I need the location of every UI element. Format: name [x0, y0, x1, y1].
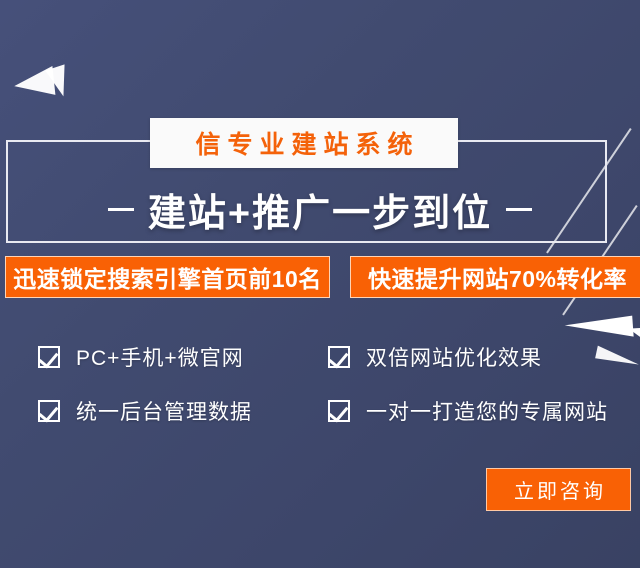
checkbox-checked-icon [38, 346, 60, 368]
highlight-bar-search-ranking: 迅速锁定搜索引擎首页前10名 [5, 256, 330, 298]
feature-label: PC+手机+微官网 [76, 342, 244, 372]
feature-label: 一对一打造您的专属网站 [366, 396, 608, 426]
headline-group: 建站+推广一步到位 [0, 182, 640, 237]
headline-rule-left [108, 208, 134, 211]
promo-banner: 信专业建站系统 建站+推广一步到位 迅速锁定搜索引擎首页前10名 快速提升网站7… [0, 0, 640, 568]
feature-item-double-optimization: 双倍网站优化效果 [328, 342, 628, 372]
paper-plane-icon [627, 325, 640, 344]
consult-now-button[interactable]: 立即咨询 [486, 468, 631, 511]
feature-list: PC+手机+微官网 双倍网站优化效果 统一后台管理数据 一对一打造您的专属网站 [38, 330, 628, 438]
page-title: 建站+推广一步到位 [148, 182, 492, 237]
feature-label: 双倍网站优化效果 [366, 342, 542, 372]
checkbox-checked-icon [38, 400, 60, 422]
feature-item-unified-backend: 统一后台管理数据 [38, 396, 328, 426]
paper-plane-icon [13, 66, 56, 99]
checkbox-checked-icon [328, 400, 350, 422]
checkbox-checked-icon [328, 346, 350, 368]
feature-item-multi-platform: PC+手机+微官网 [38, 342, 328, 372]
highlight-bar-conversion-rate: 快速提升网站70%转化率 [350, 256, 640, 298]
ribbon-badge: 信专业建站系统 [150, 118, 458, 168]
feature-item-dedicated-site: 一对一打造您的专属网站 [328, 396, 628, 426]
headline-rule-right [506, 208, 532, 211]
paper-plane-icon [44, 64, 64, 97]
feature-label: 统一后台管理数据 [76, 396, 252, 426]
ribbon-label: 信专业建站系统 [188, 125, 419, 161]
